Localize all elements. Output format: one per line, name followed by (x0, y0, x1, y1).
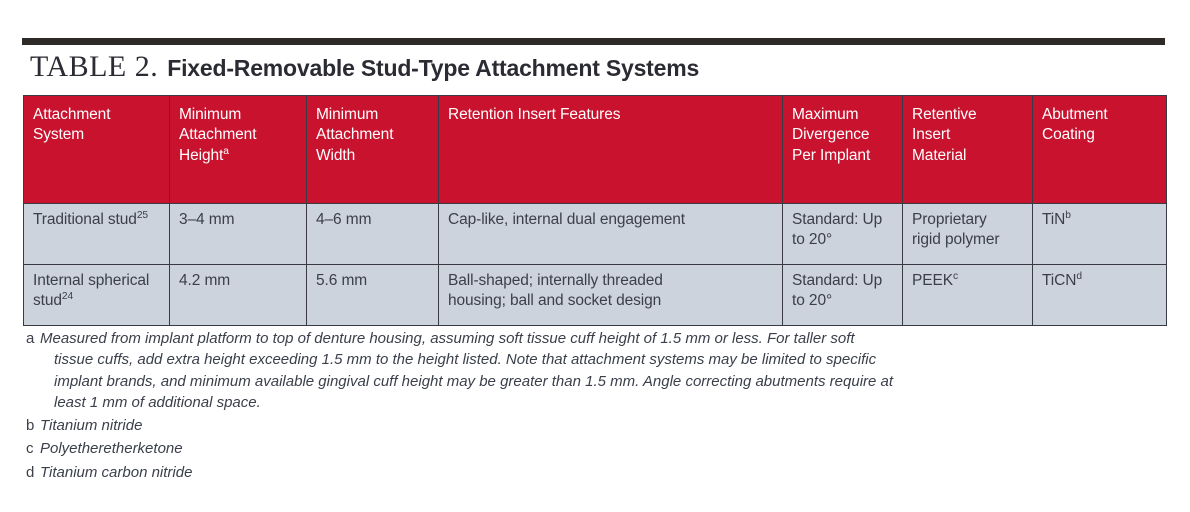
table-row: Traditional stud25 3–4 mm 4–6 mm Cap-lik… (24, 204, 1167, 265)
cell-max-divergence: Standard: Up to 20° (783, 265, 903, 326)
cell-abutment-coating: TiNb (1033, 204, 1167, 265)
footnote-marker: d (26, 462, 40, 483)
header-line-3: Material (912, 147, 966, 164)
column-header-maximum-divergence-per-implant: Maximum Divergence Per Implant (783, 96, 903, 204)
cell-max-divergence: Standard: Up to 20° (783, 204, 903, 265)
cell-retention-features: Ball-shaped; internally threaded housing… (439, 265, 783, 326)
table-body: Traditional stud25 3–4 mm 4–6 mm Cap-lik… (24, 204, 1167, 326)
cell-minimum-width: 5.6 mm (307, 265, 439, 326)
cell-line-1: Standard: Up (792, 272, 882, 289)
cell-text: Traditional stud (33, 211, 137, 228)
cell-attachment-system: Internal spherical stud24 (24, 265, 170, 326)
footnote-text: Titanium nitride (40, 415, 1171, 436)
column-header-minimum-attachment-width: Minimum Attachment Width (307, 96, 439, 204)
footnote-line-2: tissue cuffs, add extra height exceeding… (40, 349, 1171, 370)
footnote-ref-b: b (1065, 210, 1071, 221)
table-container: Attachment System Minimum Attachment Hei… (23, 95, 1166, 326)
cell-attachment-system: Traditional stud25 (24, 204, 170, 265)
attachment-systems-table: Attachment System Minimum Attachment Hei… (23, 95, 1167, 326)
header-line-3: Width (316, 147, 355, 164)
header-line-1: Abutment (1042, 106, 1108, 123)
footnote-line-4: least 1 mm of additional space. (40, 392, 1171, 413)
header-line-3: Height (179, 147, 223, 164)
footnotes-section: a Measured from implant platform to top … (26, 328, 1171, 484)
column-header-retention-insert-features: Retention Insert Features (439, 96, 783, 204)
cell-line-2: rigid polymer (912, 231, 999, 248)
header-line-2: Divergence (792, 126, 869, 143)
header-line-1: Minimum (316, 106, 378, 123)
cell-minimum-height: 3–4 mm (170, 204, 307, 265)
footnote-ref-a: a (223, 146, 229, 157)
header-line-2: Insert (912, 126, 950, 143)
cell-abutment-coating: TiCNd (1033, 265, 1167, 326)
cell-text: Internal spherical stud (33, 272, 149, 309)
footnote-marker: b (26, 415, 40, 436)
table-header-row: Attachment System Minimum Attachment Hei… (24, 96, 1167, 204)
footnote-line-1: Measured from implant platform to top of… (40, 328, 1171, 349)
column-header-abutment-coating: Abutment Coating (1033, 96, 1167, 204)
column-header-retentive-insert-material: Retentive Insert Material (903, 96, 1033, 204)
header-line-2: Attachment (316, 126, 393, 143)
footnote-d: d Titanium carbon nitride (26, 462, 1171, 483)
header-line-1: Retentive (912, 106, 977, 123)
cell-insert-material: Proprietary rigid polymer (903, 204, 1033, 265)
cell-line-1: Proprietary (912, 211, 987, 228)
cell-line-1: Ball-shaped; internally threaded (448, 272, 663, 289)
table-row: Internal spherical stud24 4.2 mm 5.6 mm … (24, 265, 1167, 326)
header-line-1: Maximum (792, 106, 858, 123)
header-line-3: Per Implant (792, 147, 870, 164)
cell-line-2: to 20° (792, 231, 832, 248)
table-page: TABLE 2. Fixed-Removable Stud-Type Attac… (0, 0, 1190, 512)
table-number-label: TABLE 2. (30, 50, 158, 84)
cell-text: TiN (1042, 211, 1065, 228)
page-title: Fixed-Removable Stud-Type Attachment Sys… (167, 55, 699, 82)
footnote-text: Polyetheretherketone (40, 438, 1171, 459)
footnote-text: Measured from implant platform to top of… (40, 328, 1171, 413)
cell-text: PEEK (912, 272, 953, 289)
citation-ref: 24 (62, 291, 73, 302)
footnote-ref-c: c (953, 271, 958, 282)
cell-line-2: to 20° (792, 292, 832, 309)
header-line-1: Attachment (33, 106, 110, 123)
header-line-1: Retention Insert Features (448, 106, 620, 123)
citation-ref: 25 (137, 210, 148, 221)
table-caption: TABLE 2. Fixed-Removable Stud-Type Attac… (30, 50, 699, 88)
table-header: Attachment System Minimum Attachment Hei… (24, 96, 1167, 204)
footnote-line-3: implant brands, and minimum available gi… (40, 371, 1171, 392)
cell-minimum-width: 4–6 mm (307, 204, 439, 265)
header-line-2: Coating (1042, 126, 1095, 143)
cell-insert-material: PEEKc (903, 265, 1033, 326)
footnote-c: c Polyetheretherketone (26, 438, 1171, 459)
top-rule-divider (22, 38, 1165, 45)
footnote-marker: a (26, 328, 40, 349)
cell-text: TiCN (1042, 272, 1076, 289)
header-line-2: System (33, 126, 84, 143)
footnote-text: Titanium carbon nitride (40, 462, 1171, 483)
cell-retention-features: Cap-like, internal dual engagement (439, 204, 783, 265)
cell-line-1: Cap-like, internal dual engagement (448, 211, 685, 228)
footnote-marker: c (26, 438, 40, 459)
cell-line-2: housing; ball and socket design (448, 292, 661, 309)
footnote-b: b Titanium nitride (26, 415, 1171, 436)
cell-minimum-height: 4.2 mm (170, 265, 307, 326)
cell-line-1: Standard: Up (792, 211, 882, 228)
header-line-1: Minimum (179, 106, 241, 123)
column-header-minimum-attachment-height: Minimum Attachment Heighta (170, 96, 307, 204)
header-line-2: Attachment (179, 126, 256, 143)
column-header-attachment-system: Attachment System (24, 96, 170, 204)
footnote-ref-d: d (1076, 271, 1082, 282)
footnote-a: a Measured from implant platform to top … (26, 328, 1171, 413)
